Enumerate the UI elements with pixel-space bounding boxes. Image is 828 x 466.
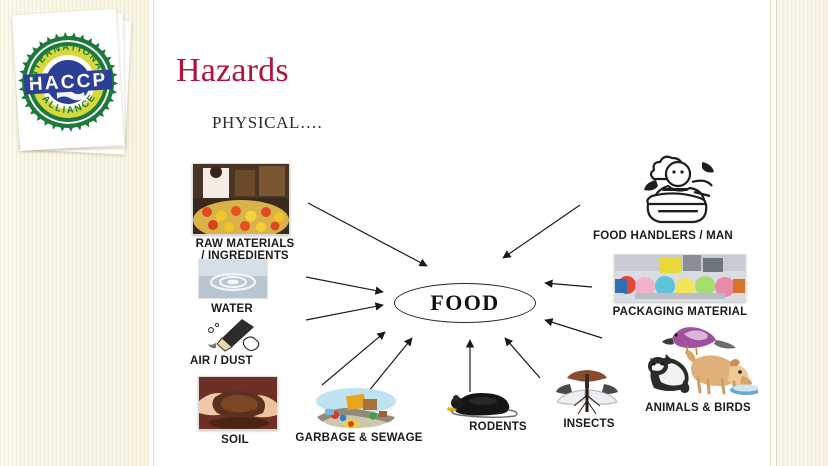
arrow-raw-materials <box>308 203 427 266</box>
node-label-air-dust: AIR / DUST <box>190 355 276 367</box>
node-label-animals-birds: ANIMALS & BIRDS <box>630 402 766 414</box>
node-garbage-sewage: GARBAGE & SEWAGE <box>283 385 435 444</box>
food-label: FOOD <box>430 290 499 316</box>
arrow-air-dust <box>306 305 383 320</box>
garbage-pile-icon <box>313 385 399 431</box>
node-raw-materials: RAW MATERIALS / INGREDIENTS <box>186 163 304 263</box>
arrow-food-handlers <box>503 205 580 258</box>
center-node-food: FOOD <box>394 283 536 323</box>
cat-dog-bird-icon <box>634 320 758 402</box>
node-label-packaging-material: PACKAGING MATERIAL <box>600 306 760 318</box>
node-label-insects: INSECTS <box>540 418 638 430</box>
node-label-garbage-sewage: GARBAGE & SEWAGE <box>283 432 435 444</box>
water-droplet-photo <box>198 259 268 299</box>
arrow-animals-birds <box>545 320 602 338</box>
soil-in-hands-photo <box>198 376 278 430</box>
arrow-water <box>306 277 383 292</box>
arrow-garbage <box>368 338 412 392</box>
rat-icon <box>443 385 519 419</box>
food-ellipse: FOOD <box>394 283 536 323</box>
node-water: WATER <box>192 259 280 315</box>
cook-line-art-icon <box>632 152 722 228</box>
packaged-goods-photo <box>614 254 746 302</box>
node-food-handlers: FOOD HANDLERS / MAN <box>578 152 748 242</box>
node-air-dust: AIR / DUST <box>190 316 282 367</box>
node-soil: SOIL <box>192 376 284 446</box>
node-label-food-handlers: FOOD HANDLERS / MAN <box>578 230 748 242</box>
arrow-packaging <box>545 283 592 287</box>
brush-dust-icon <box>202 316 264 354</box>
node-animals-birds: ANIMALS & BIRDS <box>630 320 766 414</box>
arrow-insects <box>505 338 540 378</box>
insects-icon <box>552 366 622 418</box>
slide: HACCP INTERNATIONAL ALLIANCE Hazards PHY… <box>0 0 828 466</box>
market-produce-photo <box>192 163 290 235</box>
arrow-soil <box>322 332 385 385</box>
node-label-soil: SOIL <box>192 434 278 446</box>
node-insects: INSECTS <box>540 366 638 430</box>
node-packaging-material: PACKAGING MATERIAL <box>600 254 760 318</box>
hazard-sources-diagram: RAW MATERIALS / INGREDIENTS WATER <box>0 0 828 466</box>
node-label-water: WATER <box>192 303 272 315</box>
